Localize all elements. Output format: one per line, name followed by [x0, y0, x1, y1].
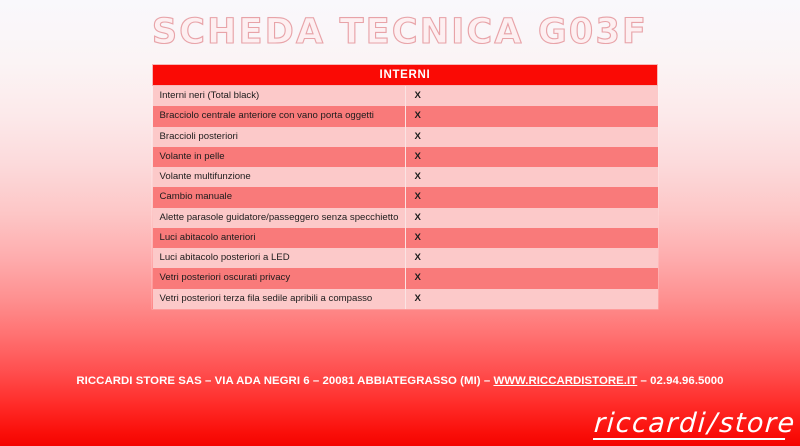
table-header-row: INTERNI	[153, 65, 658, 86]
logo-text-store: store	[719, 408, 798, 439]
spec-value: X	[405, 106, 658, 126]
spec-value: X	[405, 127, 658, 147]
spec-label: Bracciolo centrale anteriore con vano po…	[153, 106, 406, 126]
spec-table-body: Interni neri (Total black)XBracciolo cen…	[153, 86, 658, 309]
table-row: Bracciolo centrale anteriore con vano po…	[153, 106, 658, 126]
spec-value: X	[405, 248, 658, 268]
table-row: Vetri posteriori oscurati privacyX	[153, 268, 658, 288]
table-row: Alette parasole guidatore/passeggero sen…	[153, 208, 658, 228]
footer-address: – VIA ADA NEGRI 6 – 20081 ABBIATEGRASSO …	[202, 375, 494, 387]
logo-text-riccardi: riccardi	[593, 408, 708, 439]
spec-value: X	[405, 208, 658, 228]
spec-label: Vetri posteriori oscurati privacy	[153, 268, 406, 288]
table-row: Vetri posteriori terza fila sedile aprib…	[153, 289, 658, 309]
spec-table: INTERNI Interni neri (Total black)XBracc…	[152, 64, 658, 309]
footer-company: RICCARDI STORE SAS	[76, 375, 201, 387]
table-header-interni: INTERNI	[153, 65, 658, 86]
table-row: Braccioli posterioriX	[153, 127, 658, 147]
spec-value: X	[405, 228, 658, 248]
spec-label: Vetri posteriori terza fila sedile aprib…	[153, 289, 406, 309]
spec-label: Cambio manuale	[153, 187, 406, 207]
table-row: Cambio manualeX	[153, 187, 658, 207]
spec-value: X	[405, 289, 658, 309]
spec-label: Luci abitacolo anteriori	[153, 228, 406, 248]
footer-website-link[interactable]: WWW.RICCARDISTORE.IT	[493, 375, 637, 387]
spec-label: Volante in pelle	[153, 147, 406, 167]
spec-label: Volante multifunzione	[153, 167, 406, 187]
page-title: SCHEDA TECNICA G03F	[0, 12, 800, 52]
spec-value: X	[405, 147, 658, 167]
table-row: Volante multifunzioneX	[153, 167, 658, 187]
spec-value: X	[405, 268, 658, 288]
spec-label: Luci abitacolo posteriori a LED	[153, 248, 406, 268]
spec-label: Interni neri (Total black)	[153, 86, 406, 107]
table-row: Interni neri (Total black)X	[153, 86, 658, 107]
table-row: Luci abitacolo posteriori a LEDX	[153, 248, 658, 268]
riccardistore-logo: riccardi/store	[593, 410, 797, 440]
footer-contact-line: RICCARDI STORE SAS – VIA ADA NEGRI 6 – 2…	[0, 375, 800, 387]
spec-value: X	[405, 167, 658, 187]
spec-label: Braccioli posteriori	[153, 127, 406, 147]
spec-table-head: INTERNI	[153, 65, 658, 86]
footer-phone: 02.94.96.5000	[650, 375, 724, 387]
table-row: Volante in pelleX	[153, 147, 658, 167]
spec-value: X	[405, 86, 658, 107]
spec-value: X	[405, 187, 658, 207]
footer-separator: –	[637, 375, 650, 387]
spec-label: Alette parasole guidatore/passeggero sen…	[153, 208, 406, 228]
table-row: Luci abitacolo anterioriX	[153, 228, 658, 248]
slide-canvas: SCHEDA TECNICA G03F INTERNI Interni neri…	[0, 0, 800, 446]
